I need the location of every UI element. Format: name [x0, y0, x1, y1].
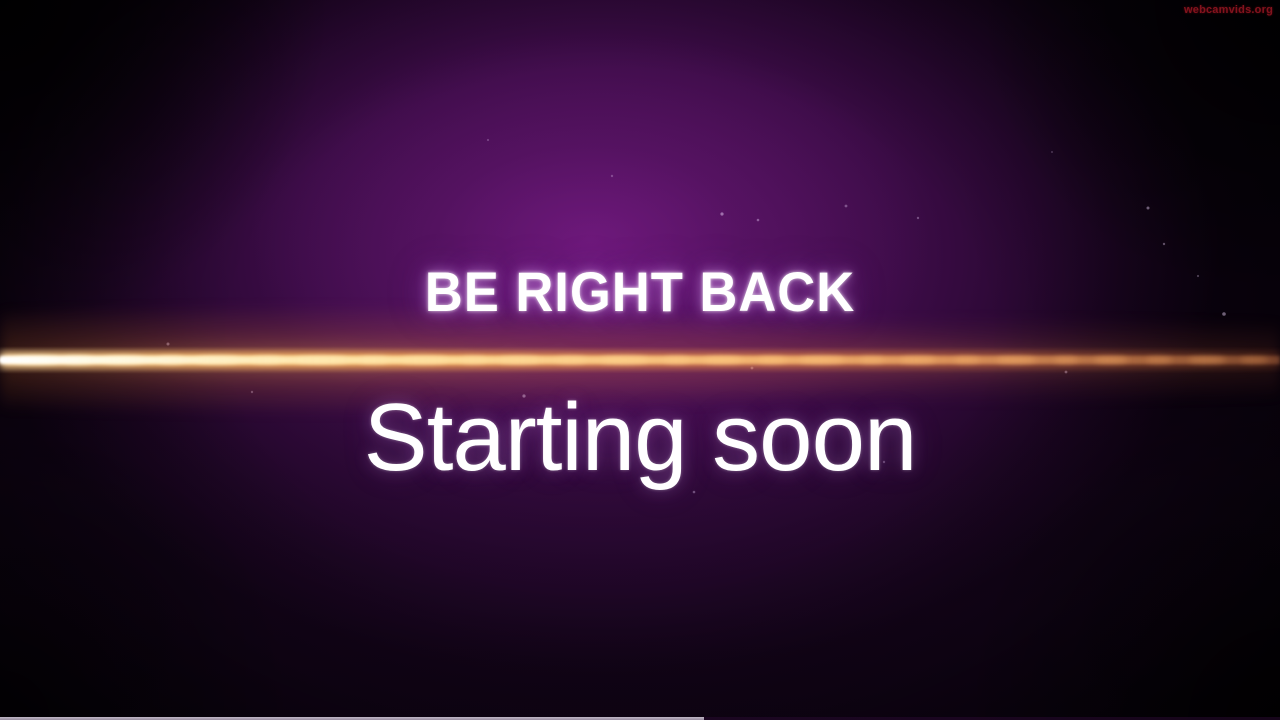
light-streak-glow [0, 346, 1280, 374]
light-streak-lead [0, 358, 300, 362]
background-vignette [0, 0, 1280, 720]
starting-soon-subtitle: Starting soon [0, 390, 1280, 486]
site-watermark: webcamvids.org [1184, 4, 1273, 16]
light-streak-core [0, 356, 1280, 364]
stream-standby-screen: BE RIGHT BACK Starting soon webcamvids.o… [0, 0, 1280, 720]
background-sparkle-particles [0, 0, 1280, 720]
background-center-bloom [0, 0, 1280, 720]
background-lower-shade [0, 0, 1280, 720]
light-streak-nodes [0, 350, 1280, 370]
background-corner-darkening [0, 0, 1280, 720]
be-right-back-title: BE RIGHT BACK [38, 264, 1241, 320]
background-purple-gradient [0, 0, 1280, 720]
